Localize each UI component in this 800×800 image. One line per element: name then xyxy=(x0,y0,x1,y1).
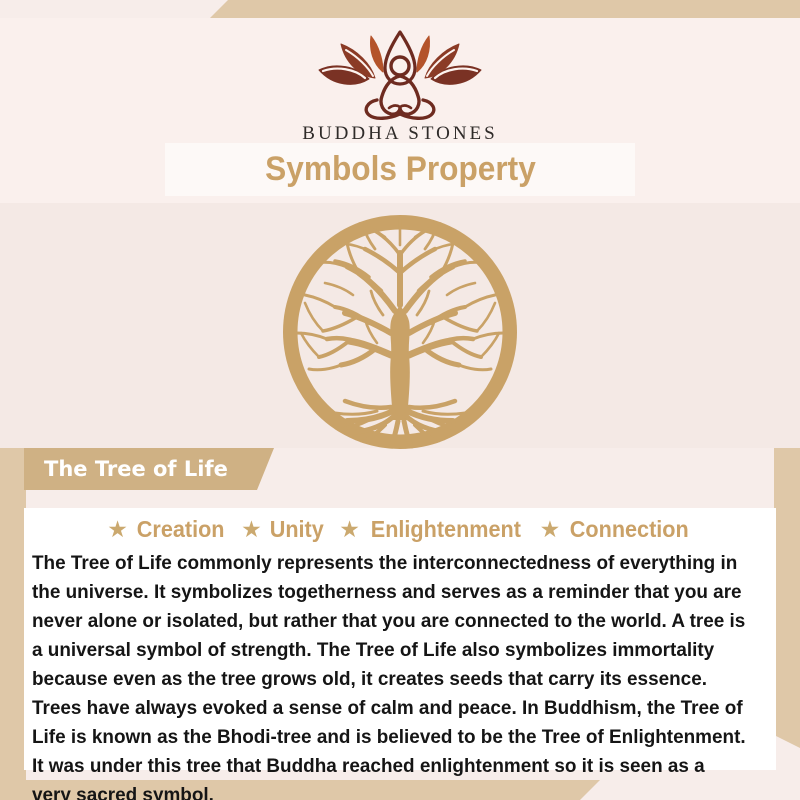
brand-name: BUDDHA STONES xyxy=(0,123,800,145)
keyword-item: ★ Creation xyxy=(107,516,227,543)
keyword-item: ★ Connection xyxy=(540,516,693,543)
emblem-area xyxy=(0,203,800,448)
section-label: The Tree of Life xyxy=(44,457,228,481)
section-label-banner: The Tree of Life xyxy=(24,448,274,490)
keyword-item: ★ Enlightenment xyxy=(339,516,525,543)
star-icon: ★ xyxy=(540,518,561,541)
description-paragraph: The Tree of Life commonly represents the… xyxy=(32,549,746,800)
tree-of-life-emblem-icon xyxy=(265,215,535,450)
star-icon: ★ xyxy=(241,518,262,541)
keyword-label: Connection xyxy=(570,516,689,543)
content-panel: ★ Creation ★ Unity ★ Enlightenment ★ Con… xyxy=(24,508,776,770)
decorative-band-top xyxy=(210,0,800,18)
title-band: Symbols Property xyxy=(165,143,635,196)
keyword-label: Enlightenment xyxy=(371,516,521,543)
star-icon: ★ xyxy=(339,518,360,541)
infographic-card: BUDDHA STONES Symbols Property xyxy=(0,0,800,800)
keyword-list: ★ Creation ★ Unity ★ Enlightenment ★ Con… xyxy=(24,508,776,543)
lotus-meditation-logo-icon xyxy=(305,26,495,121)
keyword-label: Unity xyxy=(270,516,324,543)
brand-logo: BUDDHA STONES xyxy=(0,26,800,145)
keyword-label: Creation xyxy=(137,516,225,543)
star-icon: ★ xyxy=(107,518,128,541)
keyword-item: ★ Unity xyxy=(241,516,325,543)
page-title: Symbols Property xyxy=(265,150,536,189)
